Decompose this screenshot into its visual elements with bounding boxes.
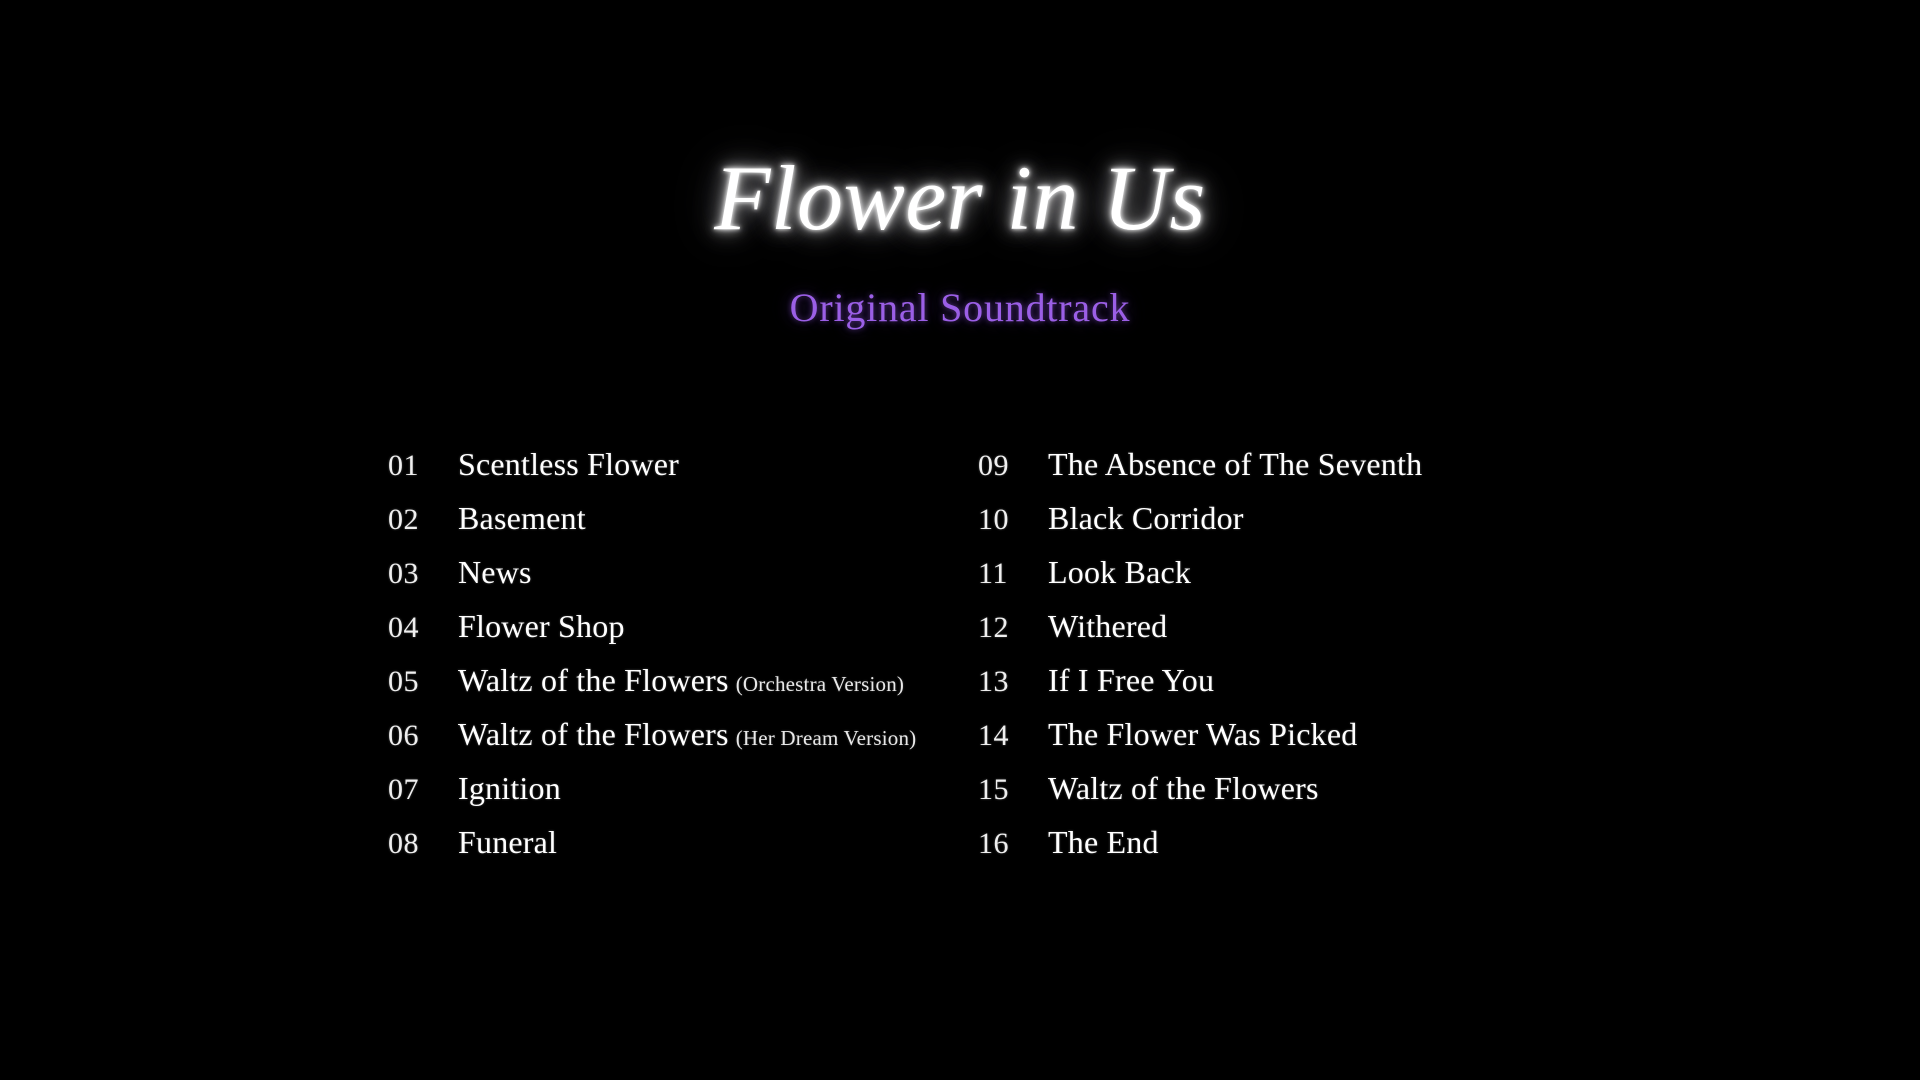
track-row[interactable]: 02Basement <box>388 502 978 556</box>
track-number: 14 <box>978 721 1048 751</box>
track-row[interactable]: 07Ignition <box>388 772 978 826</box>
track-number: 03 <box>388 559 458 589</box>
track-number: 07 <box>388 775 458 805</box>
track-row[interactable]: 05Waltz of the Flowers(Orchestra Version… <box>388 664 978 718</box>
track-number: 09 <box>978 451 1048 481</box>
album-title: Flower in Us <box>0 152 1920 244</box>
track-title: News <box>458 556 532 588</box>
track-number: 15 <box>978 775 1048 805</box>
track-column-left: 01Scentless Flower02Basement03News04Flow… <box>388 448 978 880</box>
track-number: 01 <box>388 451 458 481</box>
track-row[interactable]: 11Look Back <box>978 556 1568 610</box>
track-column-right: 09The Absence of The Seventh10Black Corr… <box>978 448 1568 880</box>
track-variant-label: (Orchestra Version) <box>736 674 904 695</box>
track-number: 11 <box>978 559 1048 589</box>
track-row[interactable]: 15Waltz of the Flowers <box>978 772 1568 826</box>
track-row[interactable]: 14The Flower Was Picked <box>978 718 1568 772</box>
track-title: The Flower Was Picked <box>1048 718 1357 750</box>
track-title: Look Back <box>1048 556 1191 588</box>
album-subtitle: Original Soundtrack <box>0 288 1920 328</box>
track-number: 04 <box>388 613 458 643</box>
track-number: 13 <box>978 667 1048 697</box>
track-number: 10 <box>978 505 1048 535</box>
track-row[interactable]: 08Funeral <box>388 826 978 880</box>
track-row[interactable]: 06Waltz of the Flowers(Her Dream Version… <box>388 718 978 772</box>
track-title: Funeral <box>458 826 557 858</box>
track-row[interactable]: 03News <box>388 556 978 610</box>
track-title: Waltz of the Flowers <box>1048 772 1319 804</box>
track-title: If I Free You <box>1048 664 1214 696</box>
track-title: Basement <box>458 502 586 534</box>
track-title: Flower Shop <box>458 610 625 642</box>
track-variant-label: (Her Dream Version) <box>736 728 917 749</box>
track-title: The Absence of The Seventh <box>1048 448 1422 480</box>
track-number: 08 <box>388 829 458 859</box>
track-title: Ignition <box>458 772 561 804</box>
track-row[interactable]: 01Scentless Flower <box>388 448 978 502</box>
track-row[interactable]: 13If I Free You <box>978 664 1568 718</box>
track-row[interactable]: 12Withered <box>978 610 1568 664</box>
album-tracklist-page: Flower in Us Original Soundtrack 01Scent… <box>0 0 1920 1080</box>
track-title: Scentless Flower <box>458 448 679 480</box>
track-number: 02 <box>388 505 458 535</box>
track-title: Waltz of the Flowers <box>458 664 729 696</box>
track-row[interactable]: 09The Absence of The Seventh <box>978 448 1568 502</box>
track-number: 12 <box>978 613 1048 643</box>
track-number: 16 <box>978 829 1048 859</box>
track-row[interactable]: 10Black Corridor <box>978 502 1568 556</box>
track-number: 05 <box>388 667 458 697</box>
track-row[interactable]: 16The End <box>978 826 1568 880</box>
track-title: Waltz of the Flowers <box>458 718 729 750</box>
tracklist: 01Scentless Flower02Basement03News04Flow… <box>388 448 1568 880</box>
track-title: Black Corridor <box>1048 502 1244 534</box>
track-title: The End <box>1048 826 1159 858</box>
track-number: 06 <box>388 721 458 751</box>
track-title: Withered <box>1048 610 1167 642</box>
track-row[interactable]: 04Flower Shop <box>388 610 978 664</box>
